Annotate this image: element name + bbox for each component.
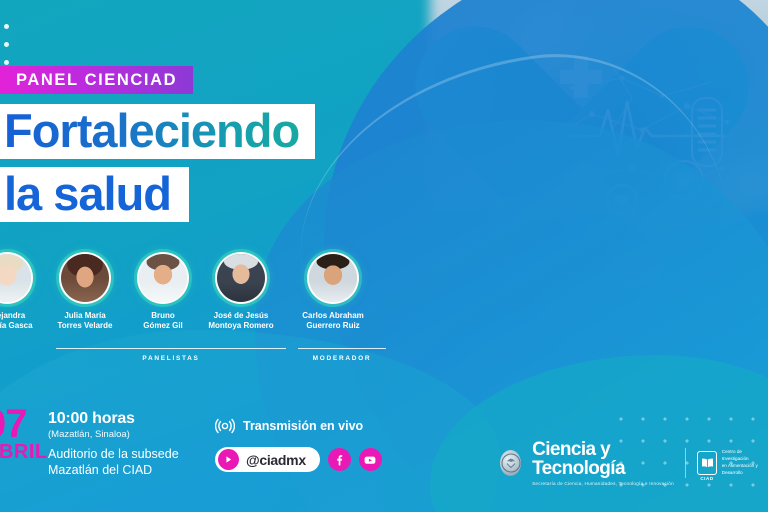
facebook-icon[interactable] (328, 448, 351, 471)
panelists-label: PANELISTAS (56, 355, 286, 362)
handle-pill[interactable]: @ciadmx (215, 447, 320, 472)
participants-row: Alejandra García Gasca Julia María Torre… (0, 252, 388, 332)
panelists-label-group: PANELISTAS (56, 348, 286, 362)
gov-subtitle: Secretaría de Ciencia, Humanidades, Tecn… (532, 481, 674, 486)
avatar (307, 252, 359, 304)
gov-title: Ciencia y Tecnología (532, 440, 674, 478)
ciad-logo: CIAD Centro de Investigación en Alimenta… (697, 449, 768, 477)
panelists-divider (56, 348, 286, 349)
avatar (137, 252, 189, 304)
government-wordmark: Ciencia y Tecnología Secretaría de Cienc… (532, 440, 674, 486)
mexican-government-seal-icon (500, 450, 521, 476)
open-book-icon: CIAD (697, 451, 716, 475)
logo-divider (685, 448, 686, 478)
panelist-name-line1: Alejandra (0, 311, 46, 321)
title-line-1: Fortaleciendo (0, 104, 315, 159)
title-line-2: la salud (0, 167, 189, 222)
panelist-name-line2: Montoya Romero (202, 321, 280, 331)
ciad-description: Centro de Investigación en Alimentación … (722, 449, 768, 477)
event-poster: PANEL CIENCIAD Fortaleciendo la salud Al… (0, 0, 768, 512)
title-line-2-text: la salud (4, 167, 171, 220)
social-links-row: @ciadmx (215, 447, 382, 472)
ciad-line2: en Alimentación y Desarrollo (722, 463, 768, 477)
event-month: ABRIL (0, 443, 48, 461)
event-day: 07 (0, 406, 48, 443)
broadcast-icon (215, 418, 235, 434)
panelist-name-line1: José de Jesús (202, 311, 280, 321)
avatar (59, 252, 111, 304)
panelist-name-line2: García Gasca (0, 321, 46, 331)
event-venue-line2: Mazatlán del CIAD (48, 463, 179, 479)
title-line-1-text: Fortaleciendo (4, 104, 299, 157)
section-labels: PANELISTAS MODERADOR (56, 348, 386, 362)
moderator-name-line2: Guerrero Ruiz (294, 321, 372, 331)
event-details: 10:00 horas (Mazatlán, Sinaloa) Auditori… (48, 410, 179, 478)
event-date: 07 ABRIL (0, 406, 48, 461)
panelist-name-line1: Bruno (124, 311, 202, 321)
panelist-name-line2: Torres Velarde (46, 321, 124, 331)
event-venue-line1: Auditorio de la subsede (48, 447, 179, 463)
institutional-logos: Ciencia y Tecnología Secretaría de Cienc… (500, 440, 768, 486)
event-city: (Mazatlán, Sinaloa) (48, 429, 179, 440)
moderator-name-line1: Carlos Abraham (294, 311, 372, 321)
panelist-name-line2: Gómez Gil (124, 321, 202, 331)
moderator-label: MODERADOR (298, 355, 386, 362)
social-handle: @ciadmx (246, 452, 306, 468)
youtube-play-icon[interactable] (218, 449, 239, 470)
live-label: Transmisión en vivo (243, 419, 363, 433)
panelist-item: Julia María Torres Velarde (46, 252, 124, 332)
panel-badge-label: PANEL CIENCIAD (16, 71, 177, 90)
panel-badge: PANEL CIENCIAD (0, 66, 193, 94)
panelist-item: Bruno Gómez Gil (124, 252, 202, 332)
ciad-wordmark: CIAD (698, 476, 715, 481)
avatar (215, 252, 267, 304)
moderator-label-group: MODERADOR (298, 348, 386, 362)
panelist-name-line1: Julia María (46, 311, 124, 321)
youtube-icon[interactable] (359, 448, 382, 471)
panelist-item: José de Jesús Montoya Romero (202, 252, 280, 332)
moderator-item: Carlos Abraham Guerrero Ruiz (294, 252, 372, 332)
live-broadcast-row: Transmisión en vivo (215, 418, 363, 434)
moderator-divider (298, 348, 386, 349)
event-time: 10:00 horas (48, 410, 179, 428)
panelist-item: Alejandra García Gasca (0, 252, 46, 332)
ciad-line1: Centro de Investigación (722, 449, 768, 463)
avatar (0, 252, 33, 304)
